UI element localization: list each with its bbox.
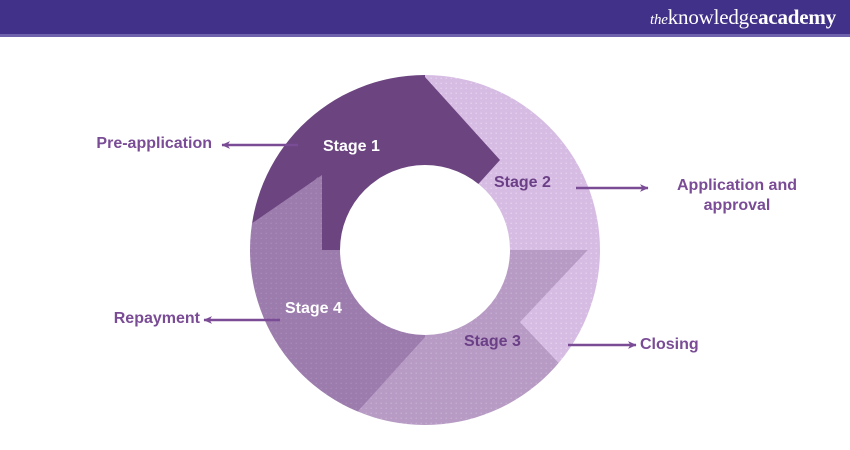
stage-label-4: Stage 4: [285, 300, 342, 318]
cycle-diagram: Stage 1 Stage 2 Stage 3 Stage 4 Pre-appl…: [0, 37, 850, 450]
brand-logo-the: the: [650, 12, 668, 28]
brand-header-bar: theknowledgeacademy: [0, 0, 850, 34]
stage-label-2: Stage 2: [494, 174, 551, 192]
stage-label-1: Stage 1: [323, 138, 380, 156]
donut-segments: [232, 60, 640, 442]
brand-logo-knowledge: knowledge: [668, 5, 758, 29]
callout-pre-application: Pre-application: [12, 134, 212, 154]
cycle-donut-svg: [0, 37, 850, 450]
callout-closing: Closing: [640, 335, 820, 355]
stage-label-3: Stage 3: [464, 333, 521, 351]
callout-repayment: Repayment: [0, 309, 200, 329]
brand-logo-academy: academy: [758, 5, 836, 29]
callout-application-and-approval: Application and approval: [652, 176, 822, 216]
brand-logo: theknowledgeacademy: [650, 7, 836, 28]
